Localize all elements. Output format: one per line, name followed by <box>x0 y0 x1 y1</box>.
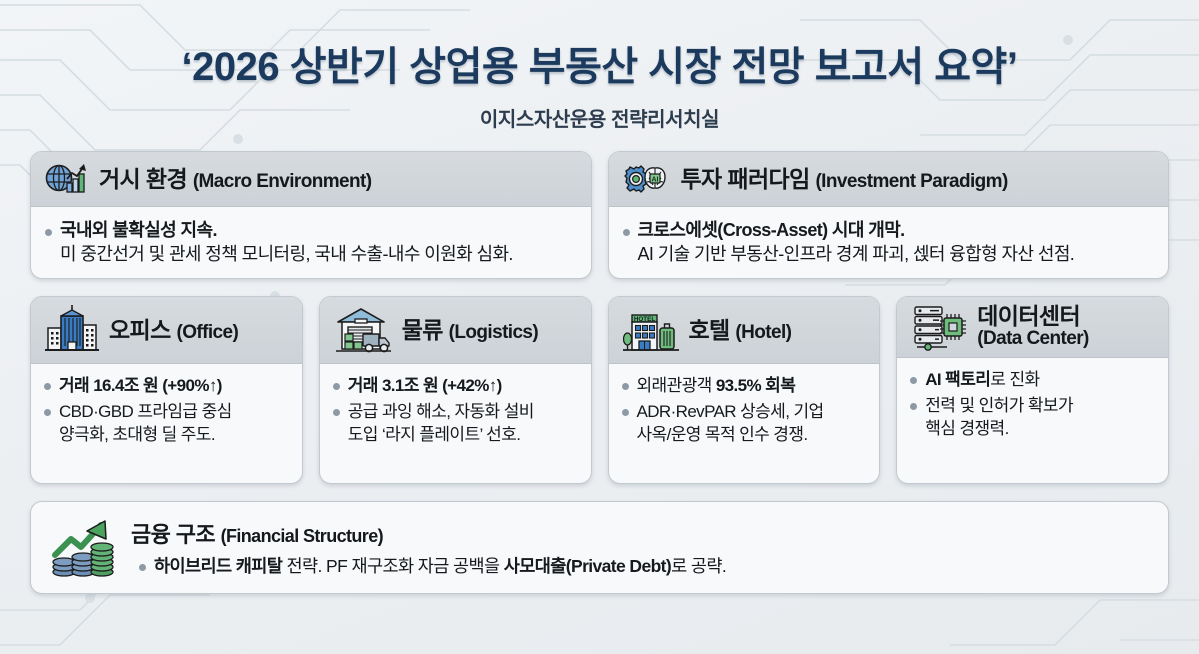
bullet-dot-icon <box>44 383 51 390</box>
card-header-logistics: 물류 (Logistics) <box>320 297 591 364</box>
bullet-dot-icon <box>622 383 629 390</box>
bullet-item: AI 팩토리로 진화 <box>910 368 1155 391</box>
bullet-dot-icon <box>910 403 917 410</box>
bullet-item: ADR·RevPAR 상승세, 기업 사옥/운영 목적 인수 경쟁. <box>622 400 867 446</box>
card-body-macro: 국내외 불확실성 지속. 미 중간선거 및 관세 정책 모니터링, 국내 수출-… <box>31 207 591 279</box>
card-hotel[interactable]: HOTEL 호텔 (Hotel <box>608 296 881 484</box>
server-chip-icon <box>911 302 967 352</box>
bullet-dot-icon <box>910 377 917 384</box>
globe-chart-icon <box>45 159 89 199</box>
sector-row: 오피스 (Office) 거래 16.4조 원 (+90%↑) CBD·GBD … <box>30 296 1169 484</box>
card-body-logistics: 거래 3.1조 원 (+42%↑) 공급 과잉 해소, 자동화 설비 도입 ‘라… <box>320 364 591 483</box>
top-row: 거시 환경 (Macro Environment) 국내외 불확실성 지속. 미… <box>30 151 1169 279</box>
page-title: ‘2026 상반기 상업용 부동산 시장 전망 보고서 요약’ <box>30 34 1169 92</box>
page-header: ‘2026 상반기 상업용 부동산 시장 전망 보고서 요약’ 이지스자산운용 … <box>30 0 1169 132</box>
bullet-dot-icon <box>622 409 629 416</box>
bullet-item: 하이브리드 캐피탈 전략. PF 재구조화 자금 공백을 사모대출(Privat… <box>131 555 726 578</box>
page-subtitle: 이지스자산운용 전략리서치실 <box>30 103 1169 132</box>
bottom-row: 금융 구조 (Financial Structure) 하이브리드 캐피탈 전략… <box>30 501 1169 594</box>
bullet-item: CBD·GBD 프라임급 중심 양극화, 초대형 딜 주도. <box>44 400 289 446</box>
bullet-item: 외래관광객 93.5% 회복 <box>622 374 867 397</box>
card-investment-paradigm[interactable]: AI 투자 패러다임 (Investment Paradigm) 크로스에셋(C… <box>608 151 1170 279</box>
bullet-detail-text: 공급 과잉 해소, 자동화 설비 도입 ‘라지 플레이트’ 선호. <box>348 400 534 446</box>
card-financial-structure[interactable]: 금융 구조 (Financial Structure) 하이브리드 캐피탈 전략… <box>30 501 1169 594</box>
card-title-en: (Hotel) <box>735 322 791 343</box>
card-logistics[interactable]: 물류 (Logistics) 거래 3.1조 원 (+42%↑) 공급 과잉 해… <box>319 296 592 484</box>
hotel-luggage-icon: HOTEL <box>623 304 679 356</box>
bullet-item: 거래 16.4조 원 (+90%↑) <box>44 374 289 397</box>
bullet-detail-text: 전력 및 인허가 확보가 핵심 경쟁력. <box>925 394 1073 440</box>
card-title-data-center: 데이터센터 (Data Center) <box>977 304 1089 349</box>
card-body-data-center: AI 팩토리로 진화 전력 및 인허가 확보가 핵심 경쟁력. <box>897 358 1168 483</box>
card-office[interactable]: 오피스 (Office) 거래 16.4조 원 (+90%↑) CBD·GBD … <box>30 296 303 484</box>
coins-growth-arrow-icon <box>51 517 117 579</box>
card-title-en: (Investment Paradigm) <box>815 171 1007 192</box>
card-title-ko: 데이터센터 <box>977 304 1089 329</box>
card-title-macro: 거시 환경 (Macro Environment) <box>99 166 371 193</box>
bullet-dot-icon <box>139 564 146 571</box>
bullet-detail-text: AI 기술 기반 부동산-인프라 경계 파괴, 섽터 융합형 자산 선점. <box>623 243 1155 267</box>
bullet-detail-text: ADR·RevPAR 상승세, 기업 사옥/운영 목적 인수 경쟁. <box>637 400 824 446</box>
bullet-bold-text: 크로스에셋(Cross-Asset) 시대 개막. <box>638 219 905 243</box>
bullet-metric-text: 거래 3.1조 원 (+42%↑) <box>348 374 502 397</box>
card-title-ko: 물류 <box>402 317 443 343</box>
card-data-center[interactable]: 데이터센터 (Data Center) AI 팩토리로 진화 전력 및 인허가 … <box>896 296 1169 484</box>
bullet-item: 크로스에셋(Cross-Asset) 시대 개막. <box>623 219 1155 243</box>
bullet-item: 전력 및 인허가 확보가 핵심 경쟁력. <box>910 394 1155 440</box>
warehouse-truck-icon <box>334 304 392 356</box>
bullet-dot-icon <box>45 229 52 236</box>
bullet-dot-icon <box>333 409 340 416</box>
card-title-en: (Macro Environment) <box>193 171 372 192</box>
card-header-data-center: 데이터센터 (Data Center) <box>897 297 1168 358</box>
bullet-item: 국내외 불확실성 지속. <box>45 219 577 243</box>
card-title-ko: 금융 구조 <box>131 522 215 547</box>
card-title-office: 오피스 (Office) <box>109 317 238 344</box>
card-title-en: (Financial Structure) <box>221 526 383 546</box>
card-header-office: 오피스 (Office) <box>31 297 302 364</box>
card-header-hotel: HOTEL 호텔 (Hotel <box>609 297 880 364</box>
card-title-ko: 투자 패러다임 <box>681 166 810 192</box>
card-title-logistics: 물류 (Logistics) <box>402 317 538 344</box>
bullet-dot-icon <box>333 383 340 390</box>
card-body-investment: 크로스에셋(Cross-Asset) 시대 개막. AI 기술 기반 부동산-인… <box>609 207 1169 279</box>
card-macro-environment[interactable]: 거시 환경 (Macro Environment) 국내외 불확실성 지속. 미… <box>30 151 592 279</box>
bullet-metric-text: AI 팩토리로 진화 <box>925 368 1039 391</box>
bullet-item: 공급 과잉 해소, 자동화 설비 도입 ‘라지 플레이트’ 선호. <box>333 400 578 446</box>
bullet-bold-text: 국내외 불확실성 지속. <box>60 219 217 243</box>
bullet-item: 거래 3.1조 원 (+42%↑) <box>333 374 578 397</box>
bullet-dot-icon <box>623 229 630 236</box>
card-header-macro: 거시 환경 (Macro Environment) <box>31 152 591 207</box>
card-title-hotel: 호텔 (Hotel) <box>689 317 792 344</box>
svg-text:AI: AI <box>651 177 658 184</box>
gear-brain-ai-icon: AI <box>623 159 671 199</box>
bullet-metric-text: 외래관광객 93.5% 회복 <box>637 374 796 397</box>
card-title-ko: 호텔 <box>689 317 730 343</box>
bullet-financial-text: 하이브리드 캐피탈 전략. PF 재구조화 자금 공백을 사모대출(Privat… <box>154 555 726 578</box>
card-header-investment: AI 투자 패러다임 (Investment Paradigm) <box>609 152 1169 207</box>
office-building-icon <box>45 304 99 356</box>
bullet-detail-text: 미 중간선거 및 관세 정책 모니터링, 국내 수출-내수 이원화 심화. <box>45 243 577 267</box>
card-title-ko: 거시 환경 <box>99 166 187 192</box>
card-title-en: (Data Center) <box>977 329 1089 350</box>
card-title-en: (Office) <box>176 322 238 343</box>
card-body-hotel: 외래관광객 93.5% 회복 ADR·RevPAR 상승세, 기업 사옥/운영 … <box>609 364 880 483</box>
card-title-ko: 오피스 <box>109 317 171 343</box>
card-body-office: 거래 16.4조 원 (+90%↑) CBD·GBD 프라임급 중심 양극화, … <box>31 364 302 483</box>
card-title-en: (Logistics) <box>449 322 538 343</box>
card-title-investment: 투자 패러다임 (Investment Paradigm) <box>681 166 1008 193</box>
card-title-financial-structure: 금융 구조 (Financial Structure) <box>131 517 726 549</box>
bullet-dot-icon <box>44 409 51 416</box>
bullet-detail-text: CBD·GBD 프라임급 중심 양극화, 초대형 딜 주도. <box>59 400 232 446</box>
bullet-metric-text: 거래 16.4조 원 (+90%↑) <box>59 374 222 397</box>
